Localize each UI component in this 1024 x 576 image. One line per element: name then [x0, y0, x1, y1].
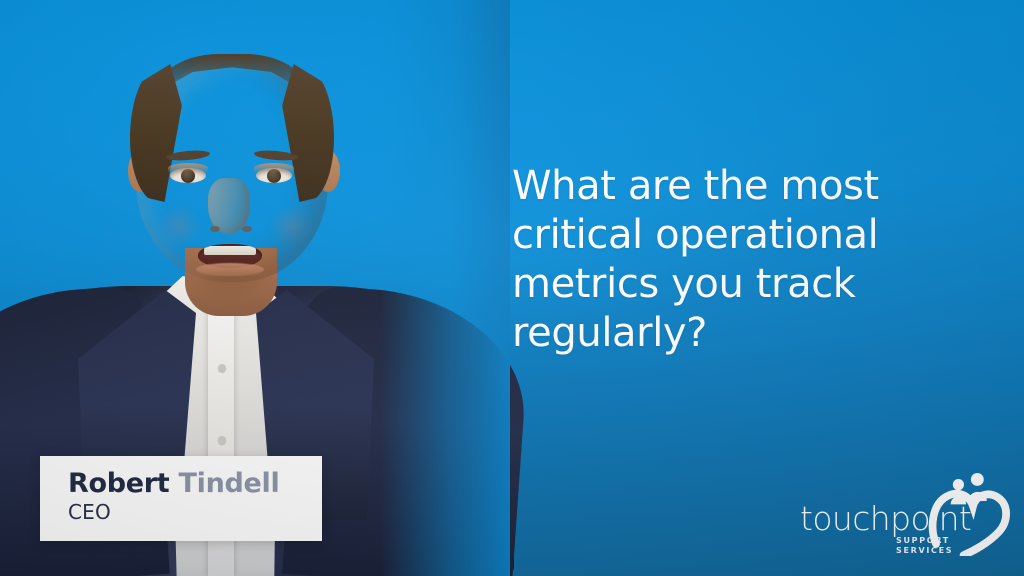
speaker-first-name: Robert	[68, 468, 169, 499]
lower-lip	[196, 263, 264, 276]
cheek-left	[156, 206, 202, 246]
headline-line: What are the most	[512, 162, 952, 211]
eyelid-right	[254, 163, 294, 173]
headline-question: What are the most critical operational m…	[512, 162, 952, 358]
speaker-title: CEO	[68, 500, 322, 524]
eyelid-left	[168, 163, 208, 173]
video-frame: What are the most critical operational m…	[0, 0, 1024, 576]
brand-logo[interactable]: touchpoint SUPPORT SERVICES	[796, 474, 1010, 554]
shirt-button	[218, 364, 226, 372]
headline-line: regularly?	[512, 309, 952, 358]
speaker-name: Robert Tindell	[68, 469, 322, 499]
speaker-last-name: Tindell	[179, 468, 280, 499]
headline-line: metrics you track	[512, 260, 952, 309]
name-card-content: Robert Tindell CEO	[40, 456, 322, 524]
teeth	[204, 246, 256, 255]
headline-line: critical operational	[512, 211, 952, 260]
shirt-button	[218, 436, 226, 444]
chin-shadow	[186, 276, 274, 300]
speaker-name-card: Robert Tindell CEO	[40, 456, 322, 541]
heart-with-two-figures-icon	[924, 470, 1010, 556]
nostril-right	[242, 226, 252, 232]
cheek-right	[268, 206, 314, 246]
nostril-left	[210, 226, 220, 232]
